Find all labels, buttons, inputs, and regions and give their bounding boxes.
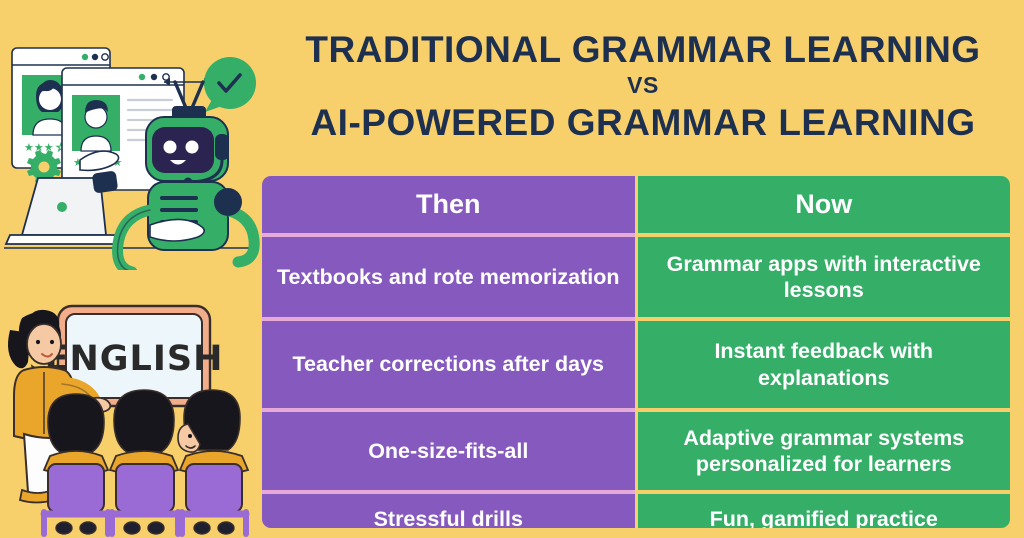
table-cell-now-2: Instant feedback with explanations (638, 321, 1011, 408)
checkmark-bubble (204, 57, 256, 112)
table-cell-then-4: Stressful drills (262, 494, 635, 528)
window-dot-navy (151, 74, 157, 80)
table-cell-then-2: Teacher corrections after days (262, 321, 635, 408)
ai-robot-illustration: ★★★ ☆☆ ★★★★★ (0, 20, 262, 270)
window-dot-navy (92, 54, 98, 60)
table-cell-now-3: Adaptive grammar systems personalized fo… (638, 412, 1011, 490)
classroom-illustration: ENGLISH (0, 288, 258, 538)
title-line-ai-powered: AI-POWERED GRAMMAR LEARNING (262, 103, 1024, 142)
title-line-vs: VS (262, 69, 1024, 102)
student-figure (178, 390, 248, 534)
robot-hand-right (150, 219, 204, 241)
table-column-now: Now Grammar apps with interactive lesson… (635, 176, 1011, 528)
table-column-then: Then Textbooks and rote memorization Tea… (262, 176, 635, 528)
column-header-now: Now (638, 176, 1011, 233)
whiteboard-text: ENGLISH (45, 339, 224, 379)
student-figure (110, 390, 178, 534)
table-cell-now-1: Grammar apps with interactive lessons (638, 237, 1011, 317)
title-line-traditional: TRADITIONAL GRAMMAR LEARNING (262, 30, 1024, 69)
table-cell-then-3: One-size-fits-all (262, 412, 635, 490)
chair-back (48, 464, 104, 512)
column-header-then: Then (262, 176, 635, 233)
table-cell-now-4: Fun, gamified practice (638, 494, 1011, 528)
window-dot-green (139, 74, 145, 80)
window-dot-green (82, 54, 88, 60)
comparison-table: Then Textbooks and rote memorization Tea… (262, 176, 1010, 528)
robot-ear (215, 134, 229, 160)
table-cell-then-1: Textbooks and rote memorization (262, 237, 635, 317)
page-title: TRADITIONAL GRAMMAR LEARNING VS AI-POWER… (262, 30, 1024, 142)
robot-eye-right (186, 141, 199, 154)
chair-back (186, 464, 242, 512)
chair-back (116, 464, 174, 512)
robot-eye-left (164, 141, 177, 154)
student-figure (44, 394, 108, 534)
